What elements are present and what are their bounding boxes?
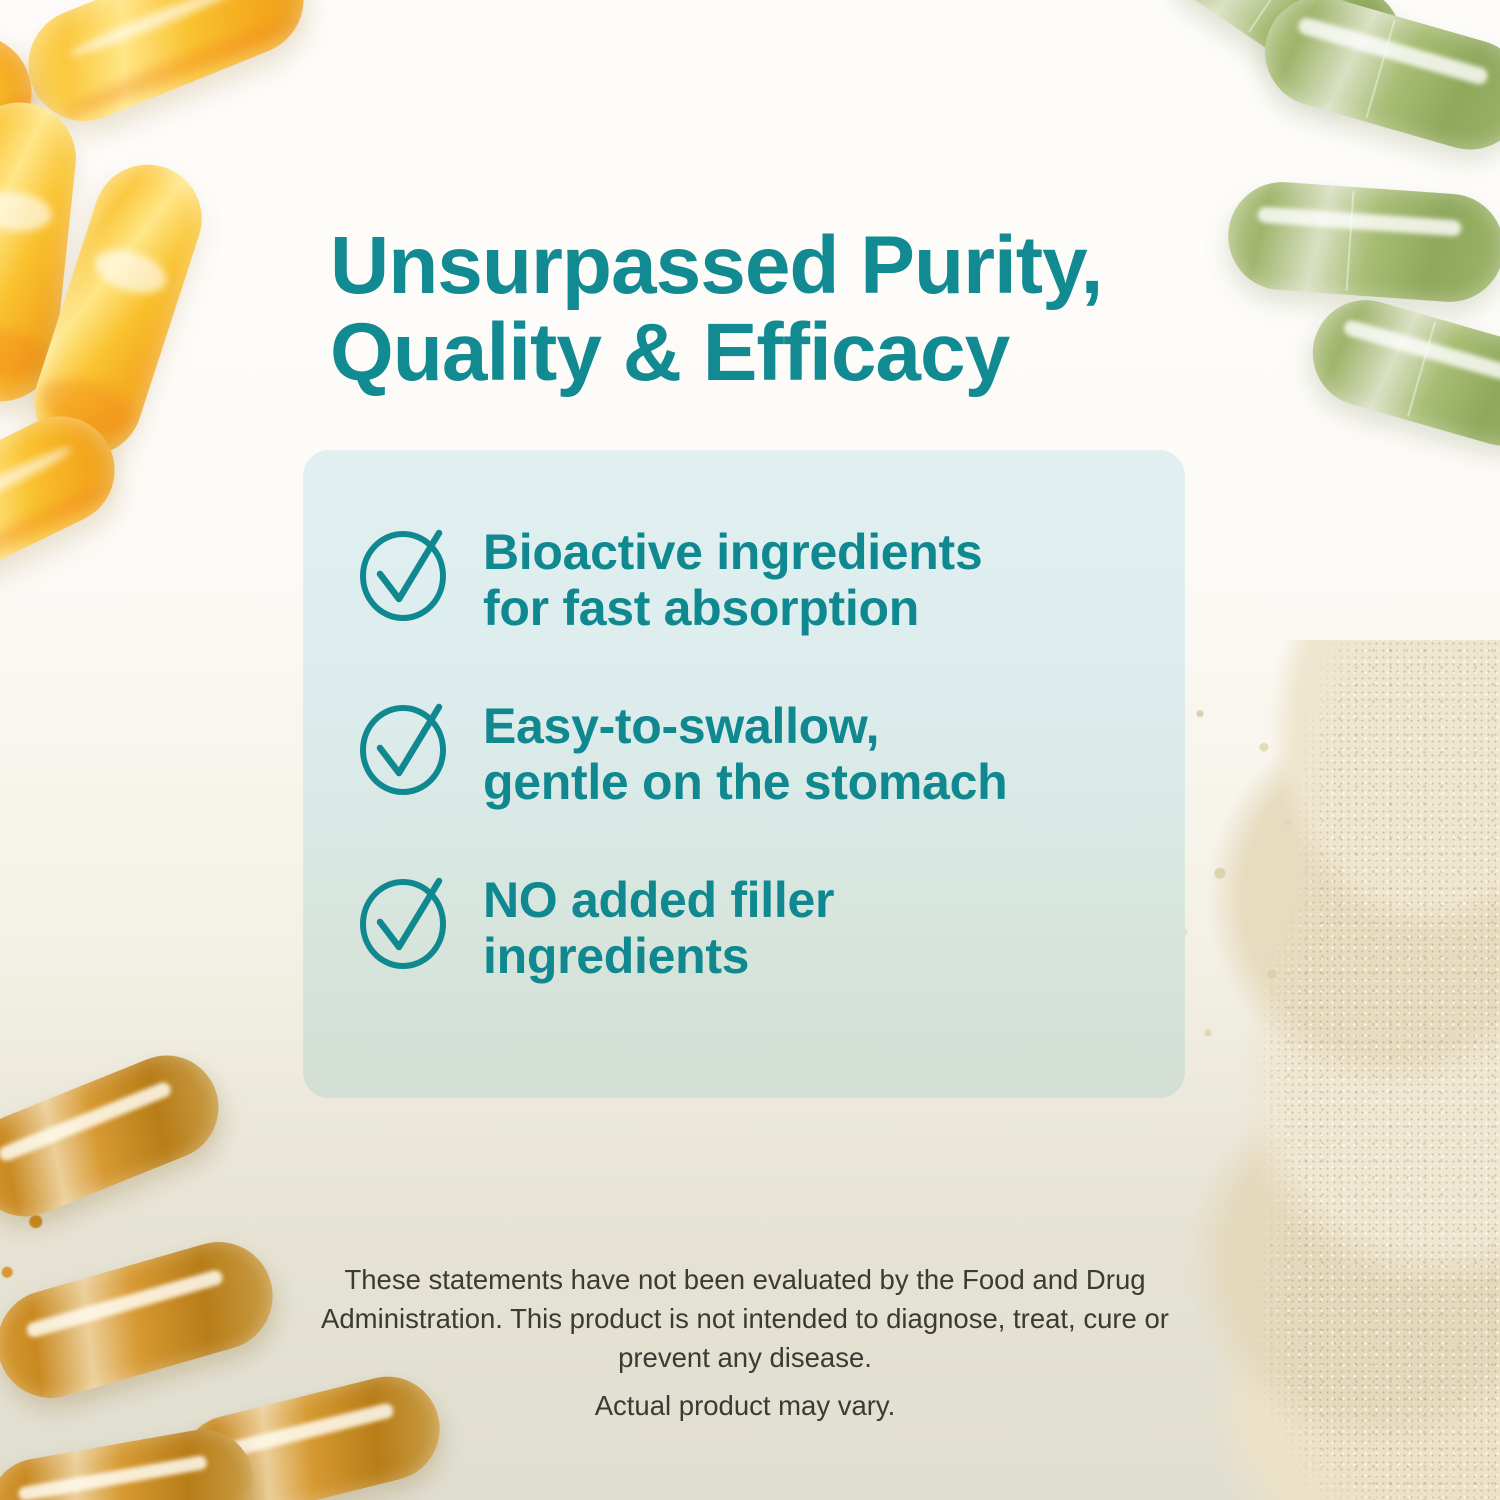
turmeric-capsule bbox=[0, 1040, 234, 1232]
benefits-list: Bioactive ingredients for fast absorptio… bbox=[355, 518, 1145, 984]
list-item: NO added filler ingredients bbox=[355, 866, 1145, 984]
softgel-capsule bbox=[0, 11, 55, 177]
page-title-line-1: Unsurpassed Purity, bbox=[330, 220, 1102, 311]
turmeric-capsule bbox=[0, 1422, 261, 1500]
softgel-capsule bbox=[0, 97, 81, 407]
product-variance-note: Actual product may vary. bbox=[300, 1390, 1190, 1422]
turmeric-powder-crumbs bbox=[0, 1102, 80, 1332]
green-capsule bbox=[1154, 0, 1422, 113]
turmeric-capsule bbox=[169, 1366, 450, 1500]
page-title-line-2: Quality & Efficacy bbox=[330, 310, 1210, 397]
softgel-capsule bbox=[0, 398, 133, 590]
list-item-text: NO added filler ingredients bbox=[483, 866, 834, 984]
green-capsule bbox=[1225, 179, 1500, 306]
list-item: Bioactive ingredients for fast absorptio… bbox=[355, 518, 1145, 636]
softgel-capsule bbox=[20, 151, 215, 470]
check-circle-icon bbox=[355, 868, 459, 972]
check-circle-icon bbox=[355, 520, 459, 624]
benefits-card: Bioactive ingredients for fast absorptio… bbox=[303, 450, 1185, 1098]
check-circle-icon bbox=[355, 694, 459, 798]
turmeric-capsule bbox=[0, 1229, 285, 1411]
list-item-line-2: for fast absorption bbox=[483, 580, 919, 636]
powder-pile bbox=[1170, 640, 1500, 1500]
list-item-line-2: gentle on the stomach bbox=[483, 754, 1007, 810]
list-item-text: Bioactive ingredients for fast absorptio… bbox=[483, 518, 982, 636]
page-title: Unsurpassed Purity, Quality & Efficacy bbox=[330, 223, 1210, 397]
softgel-capsule bbox=[12, 0, 321, 138]
list-item-line-1: Bioactive ingredients bbox=[483, 524, 982, 580]
fda-disclaimer: These statements have not been evaluated… bbox=[300, 1260, 1190, 1377]
promo-image: Unsurpassed Purity, Quality & Efficacy B… bbox=[0, 0, 1500, 1500]
green-capsule bbox=[1252, 0, 1500, 163]
green-capsule bbox=[1300, 288, 1500, 459]
list-item-line-1: Easy-to-swallow, bbox=[483, 698, 879, 754]
list-item-line-1: NO added filler bbox=[483, 872, 834, 928]
list-item-text: Easy-to-swallow, gentle on the stomach bbox=[483, 692, 1007, 810]
powder-grain-texture bbox=[1170, 640, 1500, 1500]
list-item-line-2: ingredients bbox=[483, 928, 749, 984]
list-item: Easy-to-swallow, gentle on the stomach bbox=[355, 692, 1145, 810]
yellow-softgel-capsules-photo bbox=[0, 0, 320, 630]
